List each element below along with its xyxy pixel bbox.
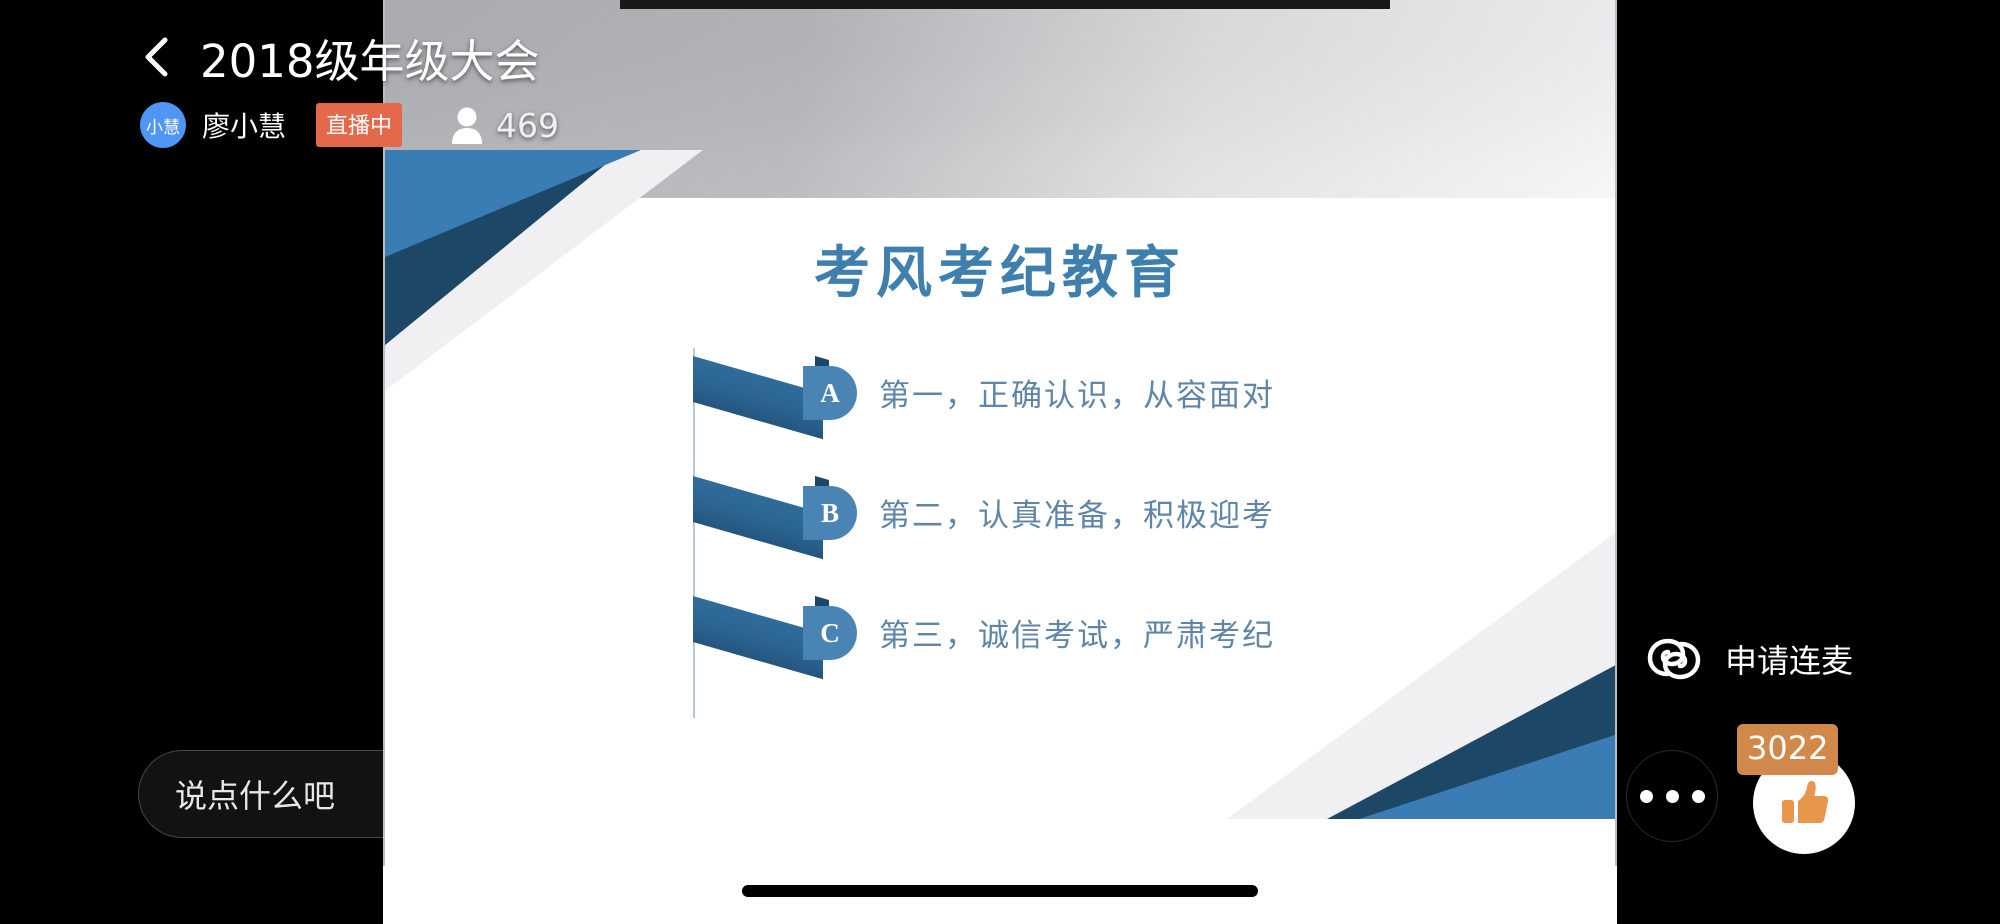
live-header: 2018级年级大会 小慧 廖小慧 直播中 469 [0,0,559,148]
slide-right-edge [1615,0,1617,924]
bullet-text-a: 第一，正确认识，从容面对 [879,370,1275,415]
comment-placeholder: 说点什么吧 [175,771,335,817]
presentation-slide-stage[interactable]: 考风考纪教育 A 第一，正确认识，从容面对 B 第二，认真准备， [383,0,1617,924]
more-options-button[interactable] [1626,750,1718,842]
viewer-count: 469 [496,106,559,145]
request-mic-label: 申请连麦 [1725,636,1853,682]
thumbs-up-icon [1778,777,1830,829]
more-dot [1666,790,1679,803]
presenter-name: 廖小慧 [202,105,286,145]
request-mic-button[interactable]: 申请连麦 [1645,630,1853,688]
link-mic-icon [1645,630,1703,688]
slide-bullet-item: B 第二，认真准备，积极迎考 [693,472,1513,592]
chevron-left-icon[interactable] [140,35,174,79]
more-dot [1640,790,1653,803]
live-stream-screen: 考风考纪教育 A 第一，正确认识，从容面对 B 第二，认真准备， [0,0,2000,924]
comment-input[interactable]: 说点什么吧 [138,750,480,838]
slide-title: 考风考纪教育 [383,228,1617,309]
page-title: 2018级年级大会 [200,25,540,90]
header-meta-row: 小慧 廖小慧 直播中 469 [140,102,559,148]
slide-bullet-item: C 第三，诚信考试，严肃考纪 [693,592,1513,712]
deco-triangle-bottom-right-light [1359,731,1617,819]
more-dot [1692,790,1705,803]
like-count-badge: 3022 [1737,724,1838,775]
status-badge-live: 直播中 [316,103,402,147]
header-title-row: 2018级年级大会 [140,28,559,86]
home-indicator-bar [383,866,1617,924]
slide-bullet-list: A 第一，正确认识，从容面对 B 第二，认真准备，积极迎考 C [693,352,1513,712]
bullet-badge-c: C [803,606,857,660]
bullet-text-c: 第三，诚信考试，严肃考纪 [879,610,1275,655]
bullet-badge-a: A [803,366,857,420]
viewer-count-group: 469 [450,106,559,145]
bullet-text-b: 第二，认真准备，积极迎考 [879,490,1275,535]
avatar[interactable]: 小慧 [140,102,186,148]
home-indicator[interactable] [742,885,1258,897]
slide-bullet-item: A 第一，正确认识，从容面对 [693,352,1513,472]
status-bar-strip [620,0,1390,9]
person-icon [450,106,484,144]
bullet-badge-b: B [803,486,857,540]
